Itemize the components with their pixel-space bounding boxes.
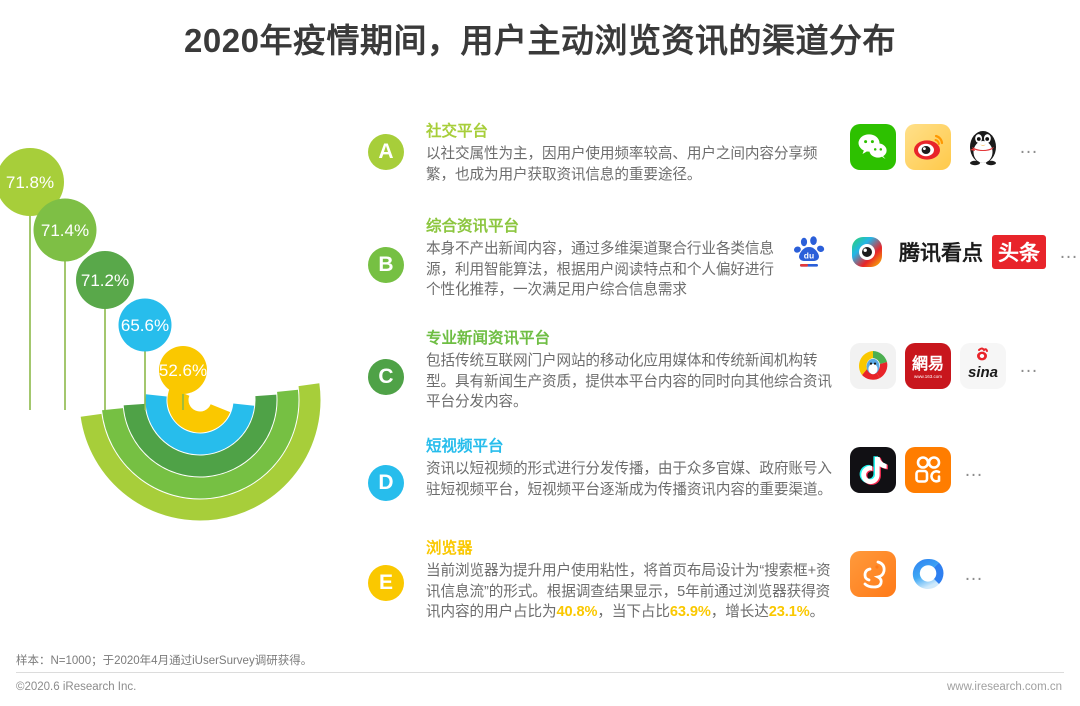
tencent-kandian-logo	[844, 229, 890, 275]
arc-e	[171, 392, 220, 429]
sina-logo: sina	[960, 343, 1006, 389]
row-heading-a: 社交平台	[426, 122, 842, 143]
netease-logo: 網易 www.163.com	[905, 343, 951, 389]
row-desc-e: 当前浏览器为提升用户使用粘性，将首页布局设计为“搜索框+资讯信息流”的形式。根据…	[426, 561, 842, 623]
more-logos-d: …	[960, 461, 985, 480]
row-text-d: 短视频平台 资讯以短视频的形式进行分发传播，由于众多官媒、政府账号入驻短视频平台…	[424, 437, 842, 500]
toutiao-logo: 头条	[992, 235, 1046, 269]
badge-wrap-e: E	[368, 539, 424, 601]
kuaishou-icon	[911, 453, 945, 487]
douyin-logo	[850, 447, 896, 493]
weibo-logo	[905, 124, 951, 170]
logo-row-d: …	[842, 447, 985, 493]
sample-note: 样本：N=1000；于2020年4月通过iUserSurvey调研获得。	[16, 652, 312, 668]
letter-badge-b: B	[368, 247, 404, 283]
bubble-label-b: 71.4%	[41, 221, 89, 240]
channel-list: A 社交平台 以社交属性为主，因用户使用频率较高、用户之间内容分享频繁，也成为用…	[368, 122, 1080, 639]
website-link[interactable]: www.iresearch.com.cn	[947, 681, 1062, 693]
bubble-label-d: 65.6%	[121, 316, 169, 335]
kandian-wordmark: 腾讯看点	[899, 237, 983, 267]
svg-text:網易: 網易	[912, 354, 944, 373]
toutiao-text: 头条	[998, 237, 1040, 267]
row-desc-e-part3: ，增长达	[711, 604, 769, 620]
row-desc-b: 本身不产出新闻内容，通过多维渠道聚合行业各类信息源，利用智能算法，根据用户阅读特…	[426, 239, 781, 301]
more-logos-b: …	[1055, 243, 1080, 262]
qq-logo	[960, 124, 1006, 170]
svg-text:www.163.com: www.163.com	[914, 374, 942, 379]
bubble-label-a: 71.8%	[6, 173, 54, 192]
uc-squirrel-icon	[856, 557, 890, 591]
row-heading-b: 综合资讯平台	[426, 217, 781, 238]
row-heading-d: 短视频平台	[426, 437, 842, 458]
logo-row-b: du	[781, 229, 1080, 275]
more-logos-c: …	[1015, 357, 1040, 376]
qq-penguin-icon	[963, 126, 1003, 168]
row-heading-e: 浏览器	[426, 539, 842, 560]
uc-browser-logo	[850, 551, 896, 597]
logo-row-c: 網易 www.163.com sina …	[842, 343, 1040, 389]
qq-browser-icon	[909, 555, 947, 593]
baidu-logo: du	[789, 229, 835, 275]
row-desc-c: 包括传统互联网门户网站的移动化应用媒体和传统新闻机构转型。具有新闻生产资质，提供…	[426, 351, 842, 413]
copyright-text: ©2020.6 iResearch Inc.	[16, 681, 136, 693]
wechat-icon	[856, 130, 890, 164]
row-text-c: 专业新闻资讯平台 包括传统互联网门户网站的移动化应用媒体和传统新闻机构转型。具有…	[424, 329, 842, 413]
row-desc-d: 资讯以短视频的形式进行分发传播，由于众多官媒、政府账号入驻短视频平台，短视频平台…	[426, 459, 842, 500]
douyin-note-icon	[858, 454, 888, 486]
row-desc-e-part2: ，当下占比	[597, 604, 669, 620]
kuaishou-logo	[905, 447, 951, 493]
badge-wrap-c: C	[368, 329, 424, 395]
more-logos-e: …	[960, 565, 985, 584]
tencent-news-logo	[850, 343, 896, 389]
badge-wrap-d: D	[368, 437, 424, 501]
arc-group	[91, 385, 324, 525]
list-item-e: E 浏览器 当前浏览器为提升用户使用粘性，将首页布局设计为“搜索框+资讯信息流”…	[368, 539, 1080, 639]
kandian-text: 腾讯看点	[899, 237, 983, 267]
kandian-eye-icon	[850, 235, 884, 269]
row-text-b: 综合资讯平台 本身不产出新闻内容，通过多维渠道聚合行业各类信息源，利用智能算法，…	[424, 217, 781, 301]
list-item-b: B 综合资讯平台 本身不产出新闻内容，通过多维渠道聚合行业各类信息源，利用智能算…	[368, 217, 1080, 329]
infographic-page: 2020年疫情期间，用户主动浏览资讯的渠道分布	[0, 0, 1080, 706]
row-desc-e-part4: 。	[810, 604, 825, 620]
letter-badge-c: C	[368, 359, 404, 395]
list-item-d: D 短视频平台 资讯以短视频的形式进行分发传播，由于众多官媒、政府账号入驻短视频…	[368, 437, 1080, 539]
more-logos-a: …	[1015, 138, 1040, 157]
list-item-c: C 专业新闻资讯平台 包括传统互联网门户网站的移动化应用媒体和传统新闻机构转型。…	[368, 329, 1080, 437]
radial-bar-chart: 71.8% 71.4% 71.2% 65.6% 52.6%	[0, 110, 380, 630]
sina-icon: sina	[961, 346, 1005, 386]
netease-wordmark-icon: 網易 www.163.com	[905, 343, 951, 389]
svg-text:sina: sina	[968, 364, 998, 381]
svg-text:du: du	[804, 251, 814, 261]
page-title: 2020年疫情期间，用户主动浏览资讯的渠道分布	[0, 14, 1080, 62]
badge-wrap-a: A	[368, 122, 424, 170]
bubble-label-e: 52.6%	[159, 361, 207, 380]
footer-divider	[16, 672, 1064, 673]
row-desc-a: 以社交属性为主，因用户使用频率较高、用户之间内容分享频繁，也成为用户获取资讯信息…	[426, 144, 842, 185]
weibo-icon	[910, 129, 946, 165]
row-heading-c: 专业新闻资讯平台	[426, 329, 842, 350]
tencent-news-icon	[854, 347, 892, 385]
letter-badge-e: E	[368, 565, 404, 601]
letter-badge-a: A	[368, 134, 404, 170]
chart-svg: 71.8% 71.4% 71.2% 65.6% 52.6%	[0, 110, 380, 630]
row-text-a: 社交平台 以社交属性为主，因用户使用频率较高、用户之间内容分享频繁，也成为用户获…	[424, 122, 842, 185]
baidu-paw-icon: du	[792, 232, 832, 272]
letter-badge-d: D	[368, 465, 404, 501]
row-desc-e-hl1: 40.8%	[556, 604, 597, 620]
list-item-a: A 社交平台 以社交属性为主，因用户使用频率较高、用户之间内容分享频繁，也成为用…	[368, 122, 1080, 217]
row-desc-e-hl3: 23.1%	[769, 604, 810, 620]
logo-row-a: …	[842, 124, 1040, 170]
logo-row-e: …	[842, 551, 985, 597]
bubble-label-c: 71.2%	[81, 271, 129, 290]
badge-wrap-b: B	[368, 217, 424, 283]
wechat-logo	[850, 124, 896, 170]
qq-browser-logo	[905, 551, 951, 597]
row-desc-e-hl2: 63.9%	[670, 604, 711, 620]
row-text-e: 浏览器 当前浏览器为提升用户使用粘性，将首页布局设计为“搜索框+资讯信息流”的形…	[424, 539, 842, 623]
